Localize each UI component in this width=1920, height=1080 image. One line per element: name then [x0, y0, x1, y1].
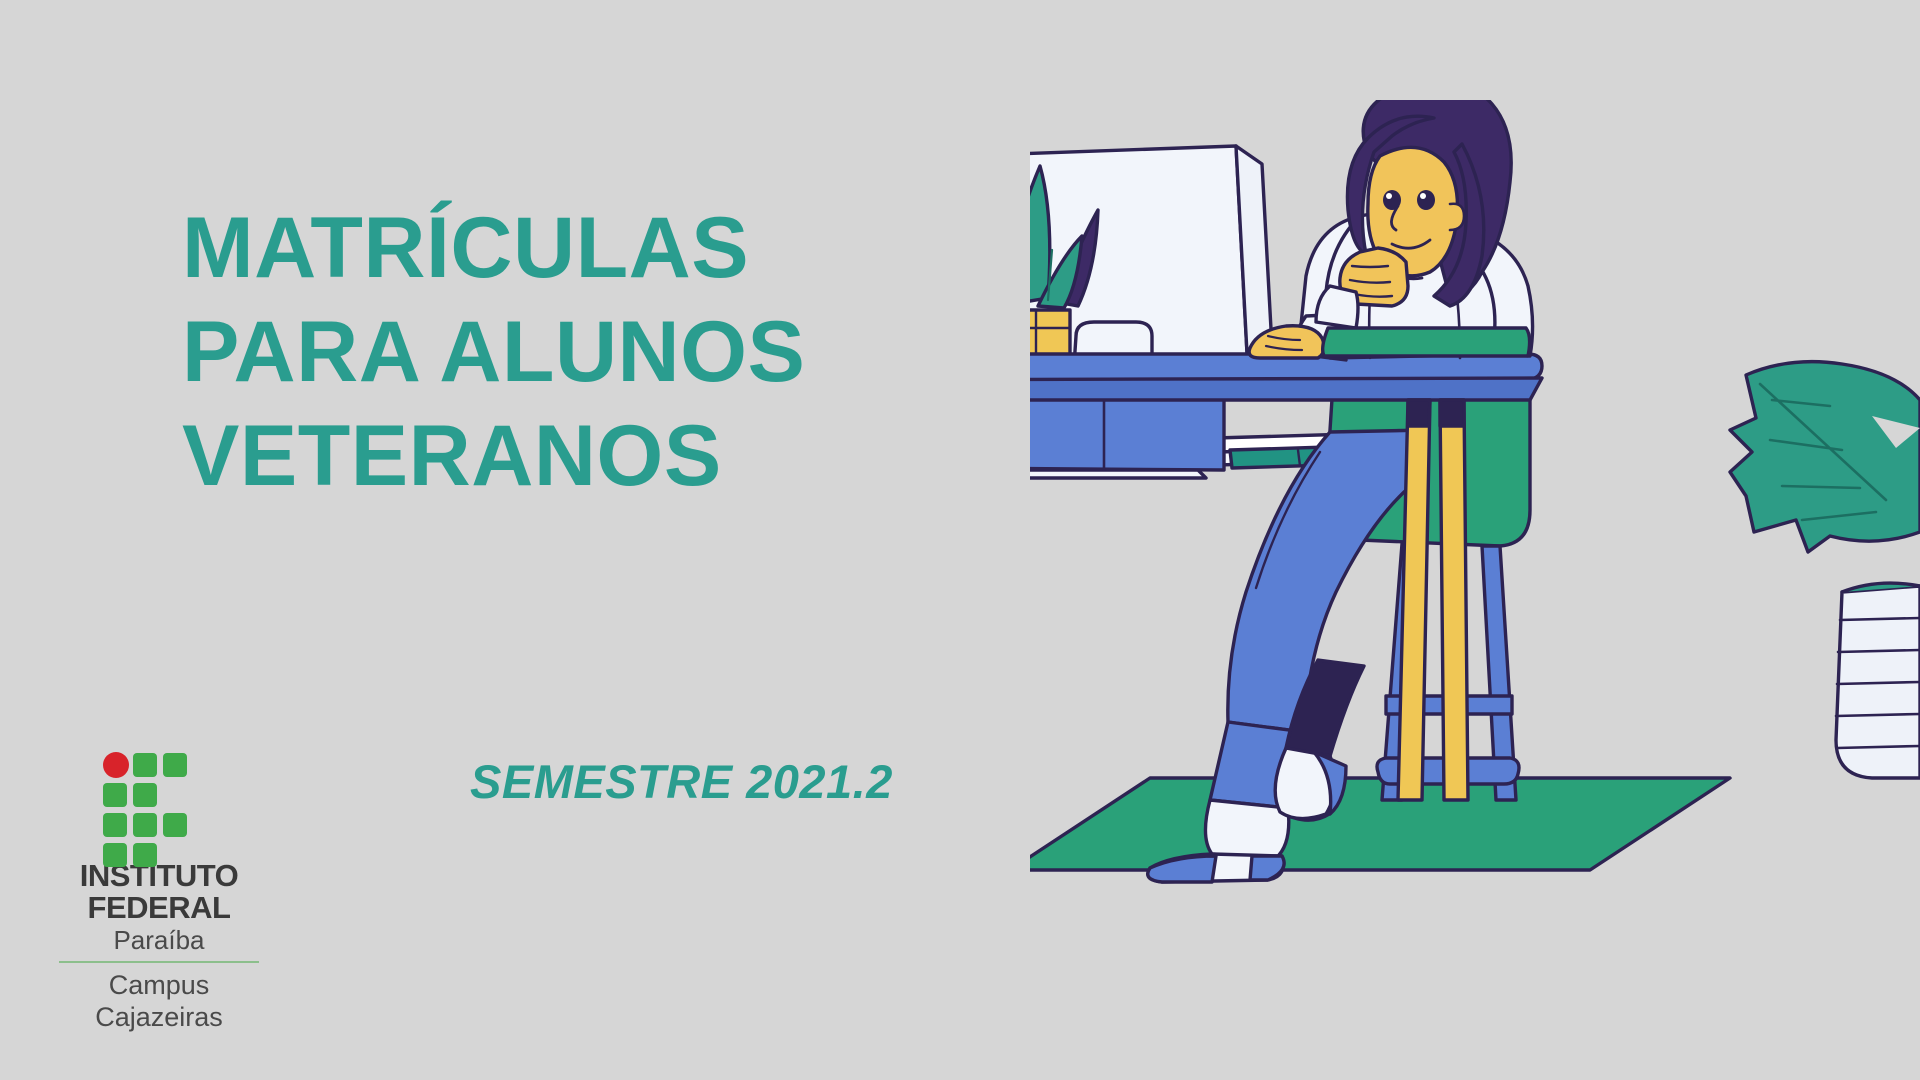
logo-cell-icon — [163, 813, 187, 837]
headline-line-3: VETERANOS — [182, 404, 1022, 508]
logo-text-instituto: INSTITUTO — [34, 860, 284, 891]
logo-text-federal: FEDERAL — [34, 891, 284, 924]
monstera-leaf — [1730, 362, 1920, 552]
woman-at-desk-illustration — [1030, 100, 1920, 980]
logo-divider — [59, 961, 259, 963]
rug-shape — [1030, 778, 1730, 870]
logo-cell-icon — [133, 753, 157, 777]
logo-cell-icon — [103, 843, 127, 867]
subtitle-semester: SEMESTRE 2021.2 — [470, 754, 893, 809]
logo-text-state: Paraíba — [34, 924, 284, 956]
ifpb-logo: INSTITUTO FEDERAL Paraíba Campus Cajazei… — [34, 752, 284, 1033]
logo-cell-icon — [163, 753, 187, 777]
headline-line-1: MATRÍCULAS — [182, 196, 1022, 300]
logo-text-campus-city: Cajazeiras — [34, 1001, 284, 1033]
logo-cell-icon — [133, 783, 157, 807]
chair-seat-front — [1323, 328, 1530, 356]
logo-cell-icon — [133, 813, 157, 837]
logo-cell-icon — [133, 843, 157, 867]
ifpb-logo-mark — [103, 752, 215, 852]
page-title: MATRÍCULAS PARA ALUNOS VETERANOS — [182, 196, 1022, 508]
logo-cell-icon — [103, 813, 127, 837]
eye-right — [1417, 190, 1435, 210]
striped-vase — [1836, 583, 1920, 778]
logo-red-dot-icon — [103, 752, 129, 778]
figure-foot-back — [1275, 748, 1346, 821]
logo-text-campus: Campus — [34, 969, 284, 1001]
logo-cell-icon — [103, 783, 127, 807]
headline-line-2: PARA ALUNOS — [182, 300, 1022, 404]
poster-canvas: MATRÍCULAS PARA ALUNOS VETERANOS SEMESTR… — [0, 0, 1920, 1080]
